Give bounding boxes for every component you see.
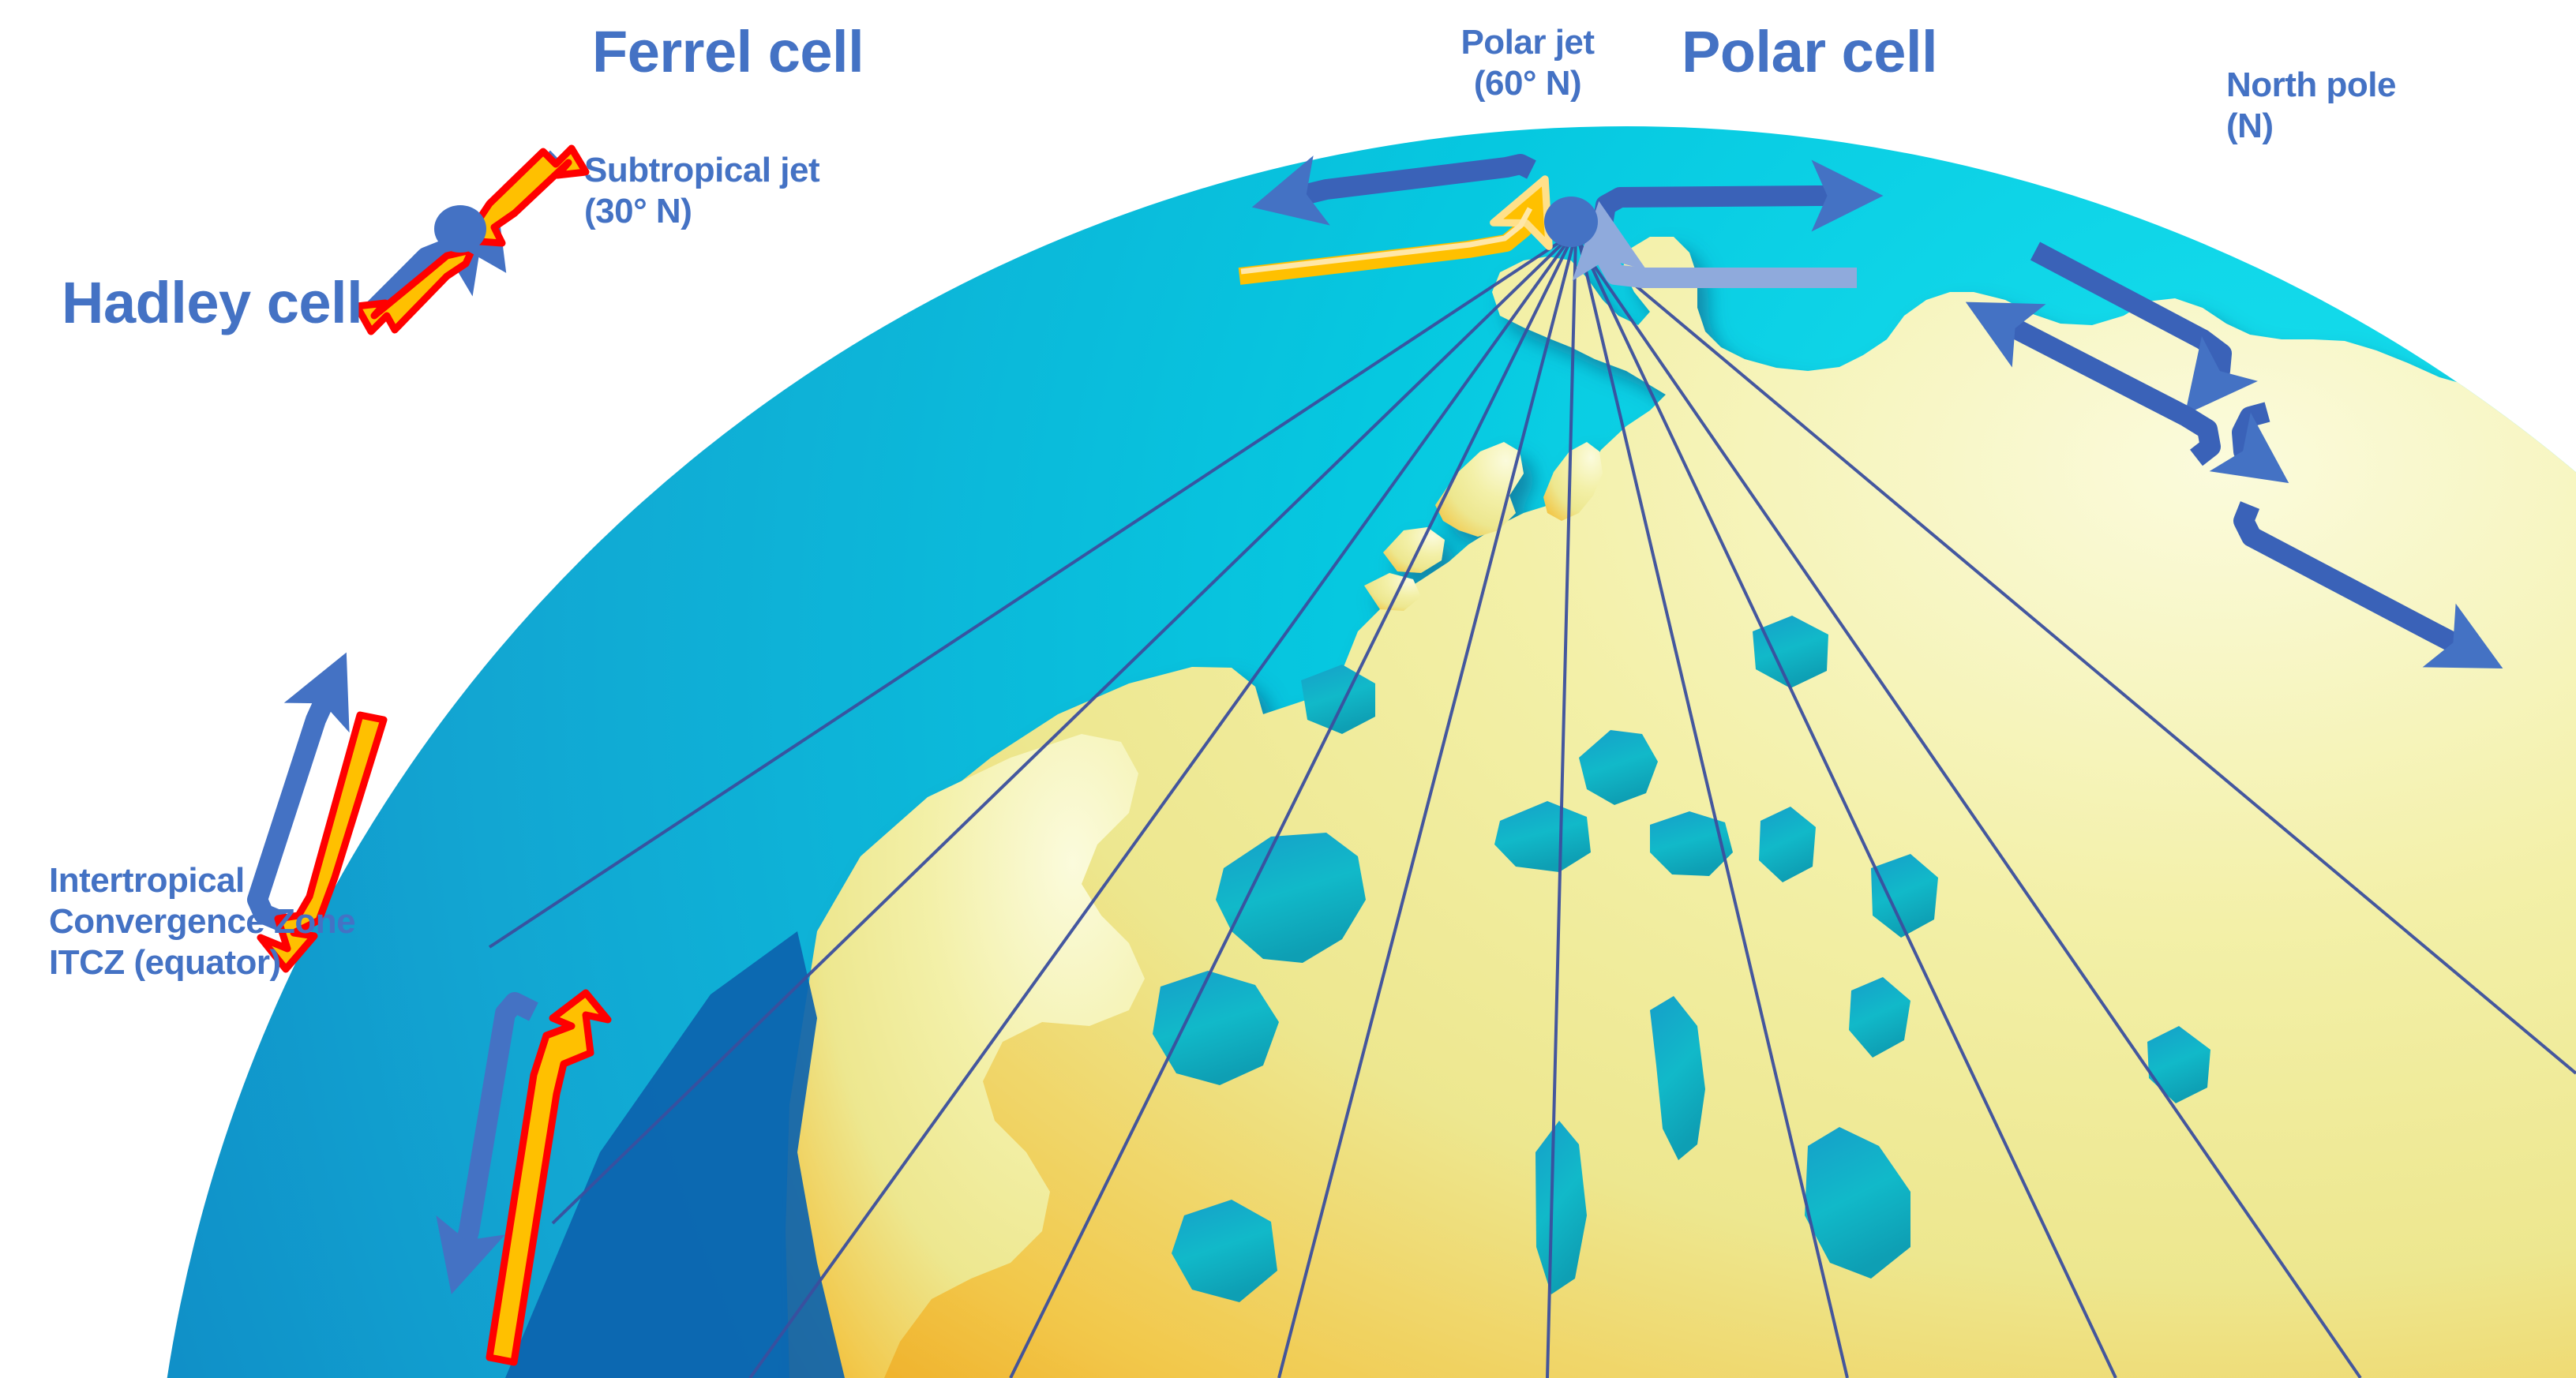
label-polar-cell: Polar cell <box>1682 17 1937 86</box>
subtropical-jet-marker <box>434 205 486 253</box>
north-pole-right-equatorward-arrow <box>2244 505 2471 652</box>
ferrel-cell-upper-circuit <box>477 148 586 243</box>
label-ferrel-cell: Ferrel cell <box>592 17 864 86</box>
ferrel-poleward-arrow-red <box>477 148 586 243</box>
label-itcz: Intertropical Convergence Zone ITCZ (equ… <box>49 860 355 983</box>
label-subtropical-jet: Subtropical jet (30° N) <box>584 150 819 232</box>
polar-cell-surface-arrow-light <box>1604 238 1857 278</box>
label-north-pole: North pole (N) <box>2226 65 2396 147</box>
hadley-cell-lower-circuit <box>461 993 608 1362</box>
label-hadley-cell: Hadley cell <box>62 268 362 337</box>
north-pole-left-poleward-arrow <box>2035 251 2222 387</box>
ferrel-upper-westerly-arrow <box>1287 164 1532 199</box>
polar-jet-marker <box>1544 197 1598 247</box>
north-pole-right-poleward-arrow <box>2242 412 2267 462</box>
north-pole-left-circuit <box>1997 251 2222 458</box>
north-pole-left-equatorward-arrow <box>1997 319 2210 458</box>
label-polar-jet: Polar jet (60° N) <box>1413 22 1642 104</box>
polar-cell-upper-arrow <box>1603 196 1847 224</box>
diagram-canvas: Ferrel cell Polar jet (60° N) Polar cell… <box>0 0 2576 1378</box>
north-pole-right-circuit <box>2242 412 2471 652</box>
circulation-arrows-layer <box>0 0 2576 1378</box>
